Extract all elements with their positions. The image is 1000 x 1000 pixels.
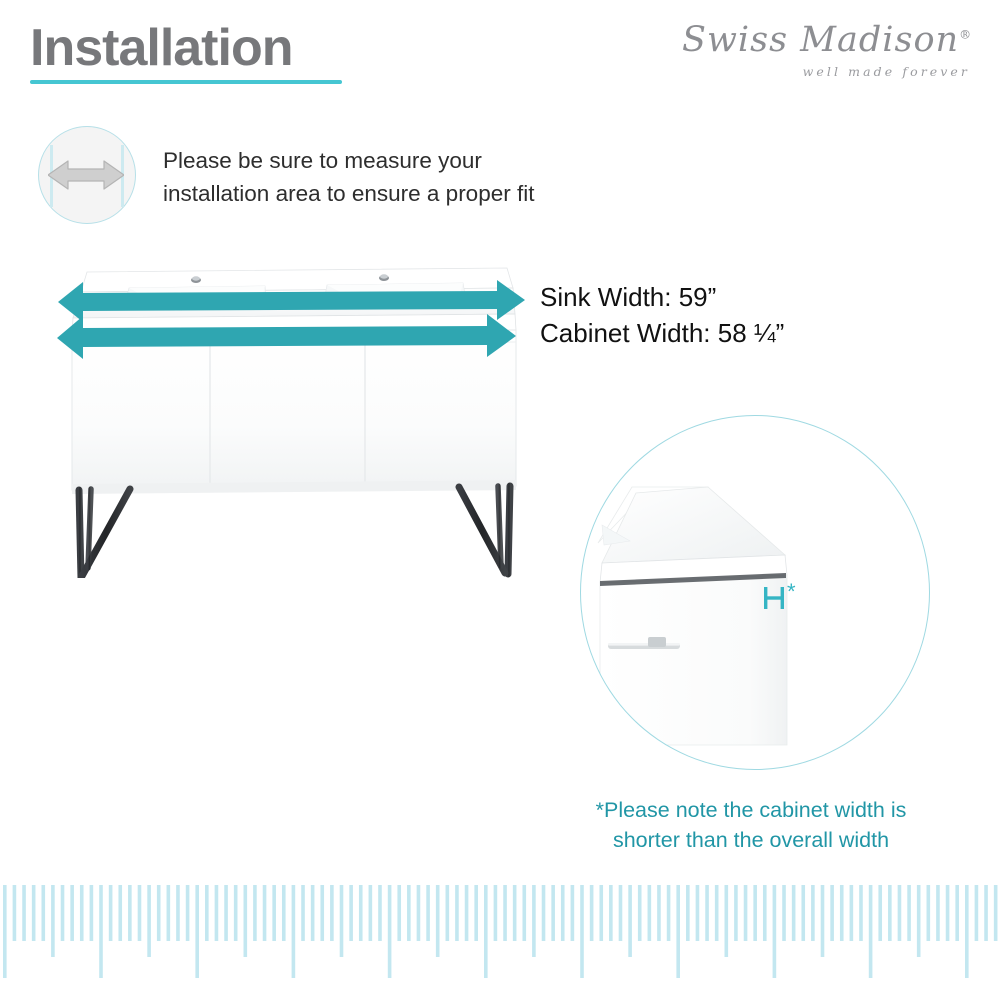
- ruler-tick: [13, 885, 17, 941]
- registered-mark: ®: [959, 27, 972, 41]
- ruler-tick: [522, 885, 526, 941]
- ruler-tick: [898, 885, 902, 941]
- thickness-marker-icon: [764, 587, 784, 609]
- brand-name: Swiss Madison®: [682, 20, 972, 60]
- ruler-tick: [378, 885, 382, 941]
- ruler-tick: [369, 885, 373, 941]
- double-arrow-measure-icon: [38, 126, 136, 224]
- ruler-tick: [619, 885, 623, 941]
- cabinet-width-label: Cabinet Width: 58 ¼”: [540, 316, 784, 352]
- ruler-tick: [99, 885, 103, 978]
- ruler-tick: [426, 885, 430, 941]
- detail-ring-border: [580, 415, 930, 770]
- cabinet-width-footnote: *Please note the cabinet width is shorte…: [555, 796, 947, 855]
- double-headed-arrow-icon: [48, 158, 124, 192]
- ruler-tick: [946, 885, 950, 941]
- ruler-tick: [696, 885, 700, 941]
- ruler-tick: [340, 885, 344, 957]
- ruler-tick: [118, 885, 122, 941]
- ruler-tick: [224, 885, 228, 941]
- ruler-tick: [773, 885, 777, 978]
- ruler-tick: [263, 885, 267, 941]
- ruler-tick: [542, 885, 546, 941]
- ruler-tick: [801, 885, 805, 941]
- ruler-tick: [157, 885, 161, 941]
- ruler-tick: [705, 885, 709, 941]
- ruler-tick: [244, 885, 248, 957]
- ruler-tick: [397, 885, 401, 941]
- ruler-tick: [715, 885, 719, 941]
- ruler-tick: [436, 885, 440, 957]
- ruler-tick: [128, 885, 132, 941]
- ruler-tick: [80, 885, 84, 941]
- ruler-tick: [753, 885, 757, 941]
- ruler-tick: [3, 885, 7, 978]
- sink-width-label: Sink Width: 59”: [540, 280, 784, 316]
- ruler-tick: [61, 885, 65, 941]
- ruler-tick: [551, 885, 555, 941]
- ruler-tick: [734, 885, 738, 941]
- ruler-tick: [888, 885, 892, 941]
- ruler-tick: [667, 885, 671, 941]
- cabinet-edge-detail: *: [580, 415, 930, 770]
- ruler-tick: [984, 885, 988, 941]
- ruler-tick: [301, 885, 305, 941]
- ruler-tick: [830, 885, 834, 941]
- ruler-tick: [330, 885, 334, 941]
- ruler-tick: [571, 885, 575, 941]
- ruler-decoration: [0, 880, 1000, 1000]
- ruler-tick: [292, 885, 296, 978]
- ruler-tick: [417, 885, 421, 941]
- ruler-tick: [782, 885, 786, 941]
- ruler-tick: [686, 885, 690, 941]
- ruler-tick: [282, 885, 286, 941]
- ruler-tick: [22, 885, 26, 941]
- brand-name-text: Swiss Madison: [682, 20, 959, 60]
- ruler-tick: [359, 885, 363, 941]
- ruler-tick: [147, 885, 151, 957]
- ruler-tick: [32, 885, 36, 941]
- ruler-tick: [590, 885, 594, 941]
- ruler-tick: [320, 885, 324, 941]
- brand-tagline: well made forever: [803, 64, 970, 79]
- measure-instruction-text: Please be sure to measure your installat…: [163, 145, 534, 210]
- ruler-tick: [513, 885, 517, 941]
- ruler-tick: [609, 885, 613, 941]
- ruler-tick: [167, 885, 171, 941]
- ruler-tick: [975, 885, 979, 941]
- ruler-tick: [907, 885, 911, 941]
- ruler-tick: [561, 885, 565, 941]
- ruler-tick: [407, 885, 411, 941]
- ruler-tick: [503, 885, 507, 941]
- ruler-tick: [186, 885, 190, 941]
- ruler-tick: [446, 885, 450, 941]
- ruler-tick: [869, 885, 873, 978]
- installation-page: Installation Swiss Madison® well made fo…: [0, 0, 1000, 1000]
- ruler-tick: [725, 885, 729, 957]
- ruler-tick: [821, 885, 825, 957]
- ruler-tick: [176, 885, 180, 941]
- ruler-tick: [599, 885, 603, 941]
- brand-logo: Swiss Madison® well made forever: [682, 20, 972, 82]
- ruler-tick: [648, 885, 652, 941]
- ruler-tick: [234, 885, 238, 941]
- ruler-tick: [349, 885, 353, 941]
- ruler-tick: [859, 885, 863, 941]
- ruler-tick: [195, 885, 199, 978]
- ruler-tick: [311, 885, 315, 941]
- ruler-tick: [936, 885, 940, 941]
- dimension-labels: Sink Width: 59” Cabinet Width: 58 ¼”: [540, 280, 784, 352]
- page-title: Installation: [30, 22, 292, 74]
- ruler-tick: [840, 885, 844, 941]
- ruler-tick: [878, 885, 882, 941]
- ruler-tick: [41, 885, 45, 941]
- ruler-tick: [676, 885, 680, 978]
- ruler-tick: [927, 885, 931, 941]
- ruler-tick: [580, 885, 584, 978]
- ruler-tick: [811, 885, 815, 941]
- ruler-tick: [917, 885, 921, 957]
- title-underline: [30, 80, 342, 84]
- ruler-tick: [532, 885, 536, 957]
- white-double-sink-vanity: [55, 258, 530, 578]
- ruler-tick: [70, 885, 74, 941]
- ruler-tick: [474, 885, 478, 941]
- ruler-tick: [138, 885, 142, 941]
- ruler-tick: [494, 885, 498, 941]
- ruler-tick: [455, 885, 459, 941]
- ruler-tick: [965, 885, 969, 978]
- ruler-tick: [253, 885, 257, 941]
- ruler-tick: [484, 885, 488, 978]
- ruler-tick: [955, 885, 959, 941]
- ruler-tick: [465, 885, 469, 941]
- ruler-tick: [763, 885, 767, 941]
- ruler-tick: [90, 885, 94, 941]
- ruler-tick: [850, 885, 854, 941]
- ruler-tick: [638, 885, 642, 941]
- ruler-tick: [109, 885, 113, 941]
- ruler-tick: [51, 885, 55, 957]
- ruler-tick: [272, 885, 276, 941]
- detail-asterisk: *: [787, 581, 796, 603]
- ruler-tick: [388, 885, 392, 978]
- ruler-tick: [215, 885, 219, 941]
- ruler-tick: [744, 885, 748, 941]
- ruler-tick: [792, 885, 796, 941]
- ruler-tick: [205, 885, 209, 941]
- ruler-tick: [657, 885, 661, 941]
- ruler-tick: [628, 885, 632, 957]
- ruler-tick: [994, 885, 998, 941]
